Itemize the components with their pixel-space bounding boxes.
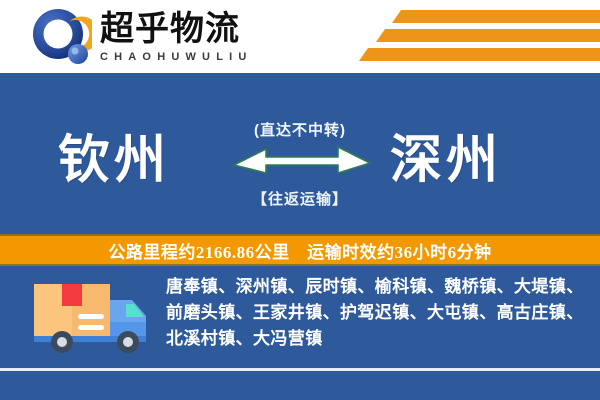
- distance-duration-text: 公路里程约2166.86公里 运输时效约36小时6分钟: [108, 238, 491, 263]
- bidirectional-arrow-icon: [232, 143, 372, 177]
- bottom-divider: [0, 368, 600, 371]
- destination-city: 深州: [390, 118, 502, 193]
- brand-name-cn: 超乎物流: [100, 10, 253, 48]
- served-towns-section: 唐奉镇、深州镇、辰时镇、榆科镇、魏桥镇、大堤镇、前磨头镇、王家井镇、护驾迟镇、大…: [0, 266, 600, 370]
- served-towns-list: 唐奉镇、深州镇、辰时镇、榆科镇、魏桥镇、大堤镇、前磨头镇、王家井镇、护驾迟镇、大…: [166, 274, 586, 352]
- stripe-bottom: [359, 48, 600, 61]
- route-section: 钦州 (直达不中转) 【往返运输】 深州: [0, 73, 600, 234]
- stripe-middle: [376, 29, 600, 42]
- header-bar: 超乎物流 CHAOHUWULIU: [0, 0, 600, 73]
- circle-q-logo-icon: [30, 6, 92, 68]
- brand-text-block: 超乎物流 CHAOHUWULIU: [100, 10, 253, 64]
- roundtrip-note: 【往返运输】: [0, 188, 600, 209]
- stripe-top: [392, 10, 600, 23]
- delivery-truck-icon: [28, 276, 156, 356]
- direct-shipping-note: (直达不中转): [0, 119, 600, 140]
- distance-duration-bar: 公路里程约2166.86公里 运输时效约36小时6分钟: [0, 234, 600, 266]
- decorative-stripes: [350, 10, 600, 65]
- logistics-route-banner: 超乎物流 CHAOHUWULIU 钦州 (直达不中转) 【往返运输】 深州 公路…: [0, 0, 600, 400]
- brand-name-en: CHAOHUWULIU: [100, 50, 253, 64]
- brand-logo-group[interactable]: 超乎物流 CHAOHUWULIU: [30, 6, 253, 68]
